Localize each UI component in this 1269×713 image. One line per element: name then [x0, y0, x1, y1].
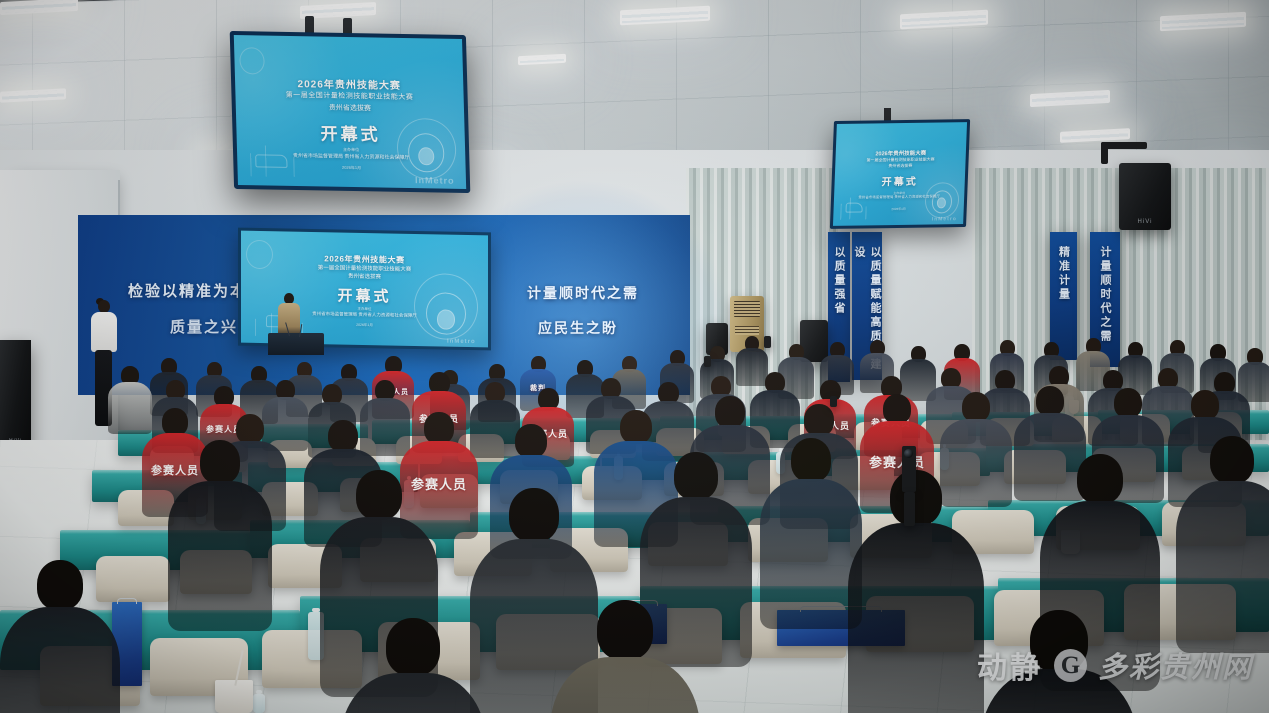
- head: [37, 560, 83, 610]
- pillar-banner-text: 计量顺时代之需: [1097, 246, 1113, 344]
- backdrop-slogan-left-1: 检验以精准为本: [128, 280, 247, 301]
- person-torso: [168, 481, 272, 631]
- photo-scene: 检验以精准为本 质量之兴 计量顺时代之需 应民生之盼 以质量强省 以质量赋能高质…: [0, 0, 1269, 713]
- camera-lens-icon: [904, 449, 913, 458]
- head: [791, 438, 831, 482]
- head: [715, 396, 745, 428]
- slide-headline: 开幕式: [834, 172, 965, 189]
- projection-screen-stage[interactable]: 2026年贵州技能大赛 第一届全国计量检测技能职业技能大赛 贵州省选拔赛 开幕式…: [238, 228, 491, 351]
- head: [1030, 610, 1088, 672]
- audience-person: [550, 600, 700, 713]
- head: [674, 452, 718, 500]
- head: [356, 470, 402, 520]
- backdrop-slogan-left-2: 质量之兴: [170, 316, 238, 337]
- head: [620, 410, 652, 444]
- gimbal-grip: [904, 492, 915, 526]
- wall-speaker: HiVi: [1119, 163, 1171, 230]
- head: [962, 392, 990, 422]
- head: [1036, 386, 1064, 416]
- podium-lectern: [268, 333, 324, 355]
- white-blouse: [91, 312, 117, 352]
- head: [515, 424, 547, 458]
- head: [386, 618, 440, 676]
- head: [509, 488, 559, 542]
- hanging-display-right[interactable]: 2026年贵州技能大赛 第一届全国计量检测技能职业技能大赛 贵州省选拔赛 开幕式…: [830, 119, 970, 229]
- slide-title-line3: 贵州省选拔赛: [236, 101, 464, 115]
- speaker-mount-arm: [1101, 142, 1108, 164]
- backdrop-slogan-right-1: 计量顺时代之需: [527, 283, 639, 303]
- handheld-gimbal-camera: [902, 446, 916, 492]
- person-torso: [0, 607, 120, 713]
- presenter-at-podium: [278, 293, 300, 337]
- speaker-brand-label: HiVi: [1119, 219, 1171, 225]
- audience-person: [1176, 436, 1269, 656]
- head: [328, 420, 358, 452]
- head: [424, 412, 454, 444]
- head: [200, 440, 240, 484]
- person-torso: [550, 657, 700, 713]
- person-torso: [340, 673, 486, 713]
- floor-speaker: HiVi: [0, 340, 31, 450]
- person-torso: [1176, 481, 1269, 653]
- head: [1077, 454, 1123, 504]
- hanging-display-main[interactable]: 2026年贵州技能大赛 第一届全国计量检测技能职业技能大赛 贵州省选拔赛 开幕式…: [230, 31, 471, 193]
- ac-grill-icon: [735, 326, 759, 335]
- head: [883, 394, 911, 424]
- audience-person: [760, 438, 862, 632]
- head: [804, 404, 834, 436]
- person-torso: [760, 479, 862, 629]
- backdrop-slogan-right-2: 应民生之盼: [538, 318, 618, 338]
- pillar-banner-text: 精准计量: [1056, 246, 1072, 302]
- audience-person: [168, 440, 272, 634]
- slide-watermark: InMetro: [415, 175, 455, 186]
- audience-person: [980, 610, 1138, 713]
- smartphone-icon: [830, 396, 837, 407]
- presentation-slide: 2026年贵州技能大赛 第一届全国计量检测技能职业技能大赛 贵州省选拔赛 开幕式…: [234, 35, 466, 189]
- slide-headline: 开幕式: [236, 118, 465, 147]
- head: [162, 408, 188, 436]
- head: [1210, 436, 1254, 484]
- pillar-banner-text: 以质量强省: [831, 246, 847, 316]
- smartphone-icon: [764, 336, 771, 348]
- decor-ring-icon: [239, 47, 265, 75]
- head: [597, 600, 653, 660]
- smartphone-icon: [704, 356, 711, 367]
- head: [890, 470, 942, 526]
- pillar-banner: 精准计量: [1050, 232, 1077, 360]
- slide-watermark: InMetro: [932, 216, 957, 222]
- slide-title-line3: 贵州省选拔赛: [835, 162, 965, 170]
- head: [1114, 388, 1142, 418]
- person-torso: [980, 669, 1138, 713]
- audience-person: [848, 470, 984, 713]
- presentation-slide: 2026年贵州技能大赛 第一届全国计量检测技能职业技能大赛 贵州省选拔赛 开幕式…: [833, 122, 967, 226]
- vest-badge-text: 参赛人员: [860, 452, 934, 471]
- head: [1191, 390, 1219, 420]
- person-torso: [848, 523, 984, 713]
- water-bottle: [253, 694, 265, 713]
- slide-watermark: InMetro: [447, 338, 476, 345]
- audience-person: [340, 618, 486, 713]
- ac-grill-icon: [734, 301, 760, 317]
- audience-person: [0, 560, 120, 713]
